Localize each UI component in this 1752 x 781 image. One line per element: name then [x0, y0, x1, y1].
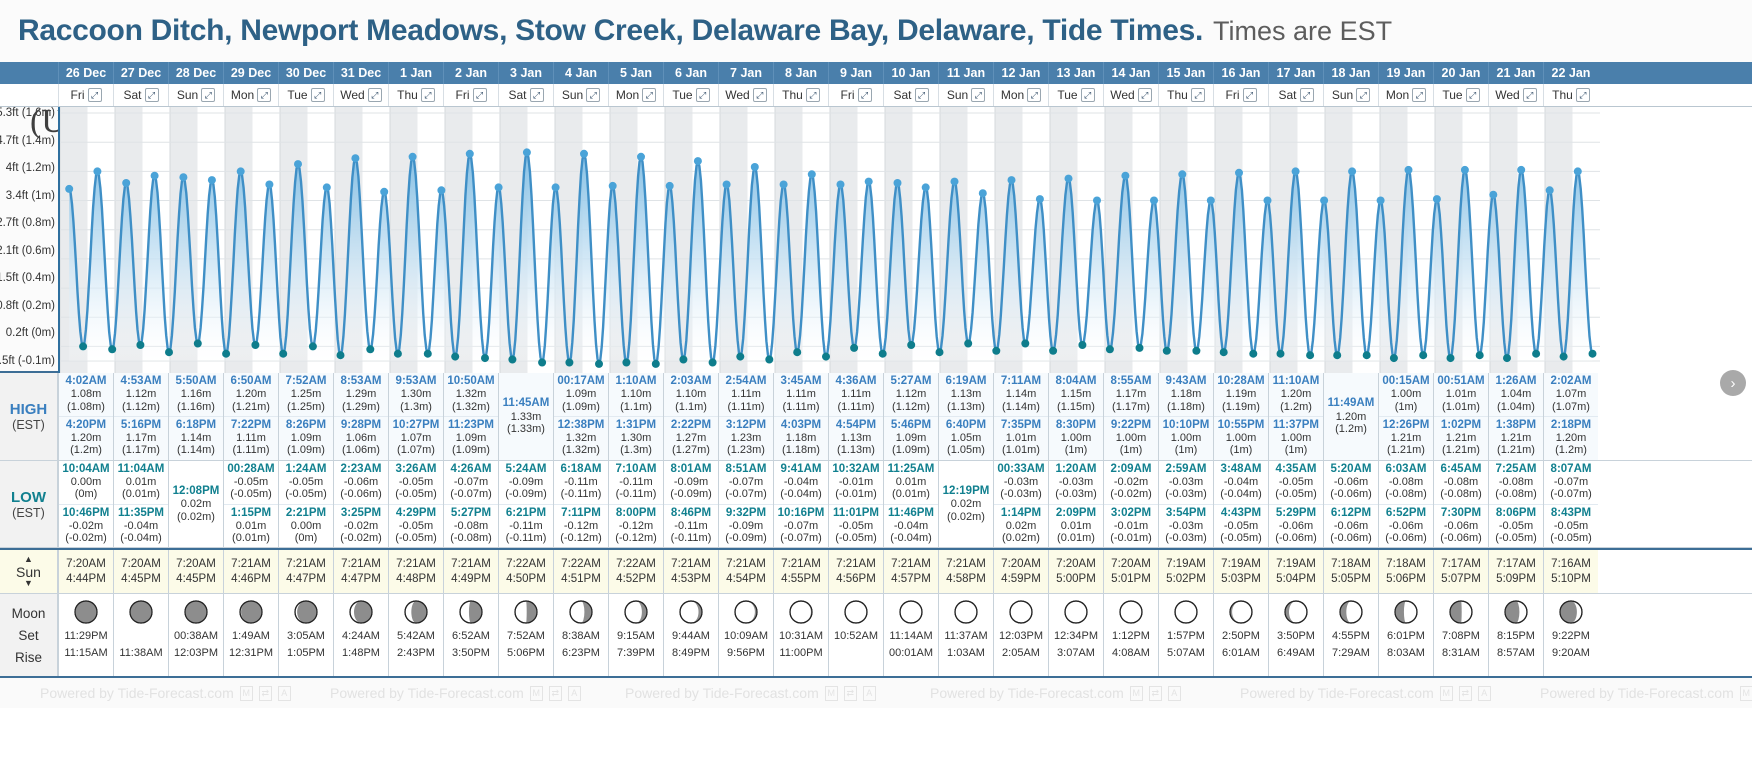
moon-cell: 6:01PM 8:03AM — [1378, 594, 1433, 676]
low-tide-cell: 2:09AM -0.02m (-0.02m)3:02PM -0.01m (-0.… — [1103, 461, 1158, 548]
tide-time: 11:49AM — [1324, 397, 1378, 410]
moonset-label: Set — [18, 628, 38, 643]
tide-height-alt: (1.2m) — [1324, 423, 1378, 435]
expand-icon[interactable]: ⤢ — [1523, 88, 1537, 102]
weekday-cell[interactable]: Wed⤢ — [1103, 84, 1158, 106]
tide-height-alt: (1.16m) — [169, 401, 223, 413]
tide-height-alt: (1.09m) — [554, 401, 608, 413]
sun-cell: 7:21AM 4:47PM — [278, 550, 333, 593]
high-tide-cell: 9:53AM 1.30m (1.3m)10:27PM 1.07m (1.07m) — [388, 373, 443, 460]
tide-event: 6:50AM 1.20m (1.21m) — [224, 373, 278, 416]
expand-icon[interactable]: ⤢ — [806, 88, 820, 102]
tide-time: 7:52AM — [279, 375, 333, 388]
sun-cell: 7:22AM 4:50PM — [498, 550, 553, 593]
weekday-label: Mon — [1386, 88, 1409, 102]
weekday-cell[interactable]: Thu⤢ — [773, 84, 828, 106]
expand-icon[interactable]: ⤢ — [1191, 88, 1205, 102]
expand-icon[interactable]: ⤢ — [1027, 88, 1041, 102]
tide-time: 8:00PM — [609, 507, 663, 520]
tide-time: 10:50AM — [444, 375, 498, 388]
sunset-time: 4:50PM — [506, 573, 546, 585]
tide-time: 10:32AM — [829, 463, 883, 476]
tide-event: 8:04AM 1.15m (1.15m) — [1049, 373, 1103, 416]
tide-time: 6:18AM — [554, 463, 608, 476]
moonset-time: 8:38AM — [562, 628, 600, 645]
tide-height: 1.30m — [609, 432, 663, 444]
tide-height: -0.07m — [1544, 476, 1598, 488]
tide-time: 8:43PM — [1544, 507, 1598, 520]
sunrise-time: 7:17AM — [1441, 558, 1481, 570]
low-tide-cell: 10:04AM 0.00m (0m)10:46PM -0.02m (-0.02m… — [58, 461, 113, 548]
tide-height: 0.00m — [279, 520, 333, 532]
moon-phase-icon — [1063, 599, 1089, 625]
weekday-cell[interactable]: Wed⤢ — [333, 84, 388, 106]
tide-height: 1.17m — [114, 432, 168, 444]
low-tide-cell: 4:35AM -0.05m (-0.05m)5:29PM -0.06m (-0.… — [1268, 461, 1323, 548]
moon-phase-icon — [1283, 599, 1309, 625]
tide-event: 11:10AM 1.20m (1.2m) — [1269, 373, 1323, 416]
moon-cells: 11:29PM 11:15AM 11:38AM 00:38AM 12:03PM … — [58, 594, 1752, 676]
high-tide-cell: 11:45AM 1.33m (1.33m) — [498, 373, 553, 460]
tide-table: 26 Dec27 Dec28 Dec29 Dec30 Dec31 Dec1 Ja… — [0, 62, 1752, 678]
weekday-cell[interactable]: Sun⤢ — [553, 84, 608, 106]
high-tide-cell: 7:11AM 1.14m (1.14m)7:35PM 1.01m (1.01m) — [993, 373, 1048, 460]
tide-height-alt: (-0.08m) — [1434, 488, 1488, 500]
tide-height: 1.01m — [1434, 388, 1488, 400]
tide-height-alt: (0.01m) — [1049, 532, 1103, 544]
tide-time: 8:04AM — [1049, 375, 1103, 388]
watermark-text: Powered by Tide-Forecast.com — [1540, 685, 1734, 701]
tide-height: 1.20m — [224, 388, 278, 400]
tide-height: 0.01m — [884, 476, 938, 488]
date-cell[interactable]: 7 Jan — [718, 62, 773, 84]
watermark-text: Powered by Tide-Forecast.com — [1240, 685, 1434, 701]
weekday-cell[interactable]: Mon⤢ — [993, 84, 1048, 106]
tide-height: 1.30m — [389, 388, 443, 400]
low-tide-cell: 11:04AM 0.01m (0.01m)11:35PM -0.04m (-0.… — [113, 461, 168, 548]
tide-height-alt: (1.12m) — [884, 401, 938, 413]
tide-height: 1.13m — [829, 432, 883, 444]
weekday-cell[interactable]: Sat⤢ — [1268, 84, 1323, 106]
low-tide-cell: 10:32AM -0.01m (-0.01m)11:01PM -0.05m (-… — [828, 461, 883, 548]
tide-event: 6:52PM -0.06m (-0.06m) — [1379, 504, 1433, 548]
high-tide-cell: 1:26AM 1.04m (1.04m)1:38PM 1.21m (1.21m) — [1488, 373, 1543, 460]
y-axis-tick: 0.2ft (0m) — [6, 327, 55, 339]
watermark-badge-icon: A — [278, 686, 291, 701]
tide-time: 3:25PM — [334, 507, 388, 520]
sunset-time: 4:57PM — [891, 573, 931, 585]
expand-icon[interactable]: ⤢ — [1300, 88, 1314, 102]
weekday-cell[interactable]: Fri⤢ — [828, 84, 883, 106]
sunrise-time: 7:19AM — [1221, 558, 1261, 570]
tide-height: -0.04m — [884, 520, 938, 532]
sunset-arrow-icon: ▼ — [24, 579, 33, 588]
tide-time: 3:26AM — [389, 463, 443, 476]
weekday-cell[interactable]: Thu⤢ — [1158, 84, 1213, 106]
sun-cell: 7:22AM 4:52PM — [608, 550, 663, 593]
moon-phase-icon — [1448, 599, 1474, 625]
date-cell[interactable]: 29 Dec — [223, 62, 278, 84]
date-cell[interactable]: 30 Dec — [278, 62, 333, 84]
date-cell[interactable]: 1 Jan — [388, 62, 443, 84]
moon-cell: 4:24AM 1:48PM — [333, 594, 388, 676]
tide-height: -0.05m — [224, 476, 278, 488]
tide-time: 11:10AM — [1269, 375, 1323, 388]
date-cell[interactable]: 26 Dec — [58, 62, 113, 84]
sun-cell: 7:19AM 5:04PM — [1268, 550, 1323, 593]
date-cell[interactable]: 17 Jan — [1268, 62, 1323, 84]
moon-phase-icon — [953, 599, 979, 625]
sun-cell: 7:17AM 5:07PM — [1433, 550, 1488, 593]
watermark-badge-icon: A — [1478, 686, 1491, 701]
high-tide-cells: 4:02AM 1.08m (1.08m)4:20PM 1.20m (1.2m)4… — [58, 373, 1752, 460]
weekday-cell[interactable]: Fri⤢ — [443, 84, 498, 106]
moon-cell: 12:03PM 2:05AM — [993, 594, 1048, 676]
tide-time: 6:40PM — [939, 419, 993, 432]
date-cell[interactable]: 5 Jan — [608, 62, 663, 84]
watermark-text: Powered by Tide-Forecast.com — [40, 685, 234, 701]
tide-time: 00:17AM — [554, 375, 608, 388]
date-cell[interactable]: 13 Jan — [1048, 62, 1103, 84]
moon-cell: 11:38AM — [113, 594, 168, 676]
weekday-cell[interactable]: Sun⤢ — [938, 84, 993, 106]
tide-event: 1:15PM 0.01m (0.01m) — [224, 504, 278, 548]
tide-height-alt: (-0.08m) — [1379, 488, 1433, 500]
weekday-cell[interactable]: Fri⤢ — [58, 84, 113, 106]
tide-event: 5:29PM -0.06m (-0.06m) — [1269, 504, 1323, 548]
tide-time: 8:55AM — [1104, 375, 1158, 388]
tide-event: 10:55PM 1.00m (1m) — [1214, 416, 1268, 460]
moonset-time: 10:31AM — [779, 628, 823, 645]
tide-height: 1.00m — [1104, 432, 1158, 444]
tide-event: 3:12PM 1.23m (1.23m) — [719, 416, 773, 460]
tide-time: 9:32PM — [719, 507, 773, 520]
sun-cell: 7:21AM 4:53PM — [663, 550, 718, 593]
expand-icon[interactable]: ⤢ — [145, 88, 159, 102]
tide-height: 1.18m — [774, 432, 828, 444]
moonrise-time: 8:49PM — [672, 645, 710, 662]
tide-event: 5:27PM -0.08m (-0.08m) — [444, 504, 498, 548]
sunset-time: 5:10PM — [1551, 573, 1591, 585]
tide-time: 1:38PM — [1489, 419, 1543, 432]
weekday-label: Tue — [1057, 88, 1077, 102]
tide-time: 6:19AM — [939, 375, 993, 388]
watermark-badge-icon: A — [568, 686, 581, 701]
tide-height-alt: (1.1m) — [609, 401, 663, 413]
tide-height: 1.09m — [554, 388, 608, 400]
sun-cell: 7:17AM 5:09PM — [1488, 550, 1543, 593]
tide-height: -0.05m — [829, 520, 883, 532]
weekday-cell[interactable]: Thu⤢ — [388, 84, 443, 106]
expand-icon[interactable]: ⤢ — [642, 88, 656, 102]
expand-icon[interactable]: ⤢ — [1576, 88, 1590, 102]
sun-cell: 7:20AM 5:00PM — [1048, 550, 1103, 593]
tide-event: 11:23PM 1.09m (1.09m) — [444, 416, 498, 460]
expand-icon[interactable]: ⤢ — [1466, 88, 1480, 102]
date-cell[interactable]: 14 Jan — [1103, 62, 1158, 84]
weekday-cell[interactable]: Mon⤢ — [608, 84, 663, 106]
tide-time: 1:10AM — [609, 375, 663, 388]
date-cell[interactable]: 19 Jan — [1378, 62, 1433, 84]
high-tide-title: HIGH — [10, 401, 48, 418]
weekday-cell[interactable]: Thu⤢ — [1543, 84, 1598, 106]
tide-height-alt: (1.11m) — [224, 444, 278, 456]
tide-curve-plot[interactable] — [58, 107, 1752, 373]
tide-height-alt: (0.02m) — [169, 511, 223, 523]
tide-time: 9:28PM — [334, 419, 388, 432]
expand-icon[interactable]: ⤢ — [88, 88, 102, 102]
tide-height-alt: (1.01m) — [994, 444, 1048, 456]
tide-event: 2:18PM 1.20m (1.2m) — [1544, 416, 1598, 460]
date-cell[interactable]: 18 Jan — [1323, 62, 1378, 84]
tide-height-alt: (-0.04m) — [1214, 488, 1268, 500]
tide-time: 7:10AM — [609, 463, 663, 476]
tide-time: 6:50AM — [224, 375, 278, 388]
tide-time: 1:14PM — [994, 507, 1048, 520]
tide-event: 3:48AM -0.04m (-0.04m) — [1214, 461, 1268, 504]
low-tide-cell: 7:10AM -0.11m (-0.11m)8:00PM -0.12m (-0.… — [608, 461, 663, 548]
sun-cell: 7:16AM 5:10PM — [1543, 550, 1598, 593]
date-cell[interactable]: 20 Jan — [1433, 62, 1488, 84]
high-tide-cell: 4:53AM 1.12m (1.12m)5:16PM 1.17m (1.17m) — [113, 373, 168, 460]
tide-time: 2:21PM — [279, 507, 333, 520]
tide-height: 0.01m — [114, 476, 168, 488]
tide-height-alt: (-0.05m) — [1544, 532, 1598, 544]
expand-icon[interactable]: ⤢ — [1412, 88, 1426, 102]
tide-height: -0.09m — [719, 520, 773, 532]
expand-icon[interactable]: ⤢ — [257, 88, 271, 102]
tide-height-alt: (1.15m) — [1049, 401, 1103, 413]
tide-height-alt: (-0.05m) — [389, 532, 443, 544]
low-tide-cell: 12:19PM 0.02m (0.02m) — [938, 461, 993, 548]
weekday-label: Sun — [947, 88, 968, 102]
tide-event: 1:20AM -0.03m (-0.03m) — [1049, 461, 1103, 504]
weekday-cell[interactable]: Mon⤢ — [1378, 84, 1433, 106]
weekday-cell[interactable]: Sat⤢ — [498, 84, 553, 106]
y-axis-tick: 4ft (1.2m) — [6, 162, 55, 174]
tide-event: 1:14PM 0.02m (0.02m) — [994, 504, 1048, 548]
tide-time: 10:46PM — [59, 507, 113, 520]
moon-cell: 10:31AM 11:00PM — [773, 594, 828, 676]
tide-time: 4:26AM — [444, 463, 498, 476]
tide-time: 8:07AM — [1544, 463, 1598, 476]
expand-icon[interactable]: ⤢ — [1356, 88, 1370, 102]
tide-height: -0.06m — [1324, 476, 1378, 488]
moon-phase-icon — [568, 599, 594, 625]
tide-height-alt: (-0.09m) — [664, 488, 718, 500]
low-tide-timezone: (EST) — [12, 506, 45, 520]
tide-time: 4:36AM — [829, 375, 883, 388]
tide-time: 3:02PM — [1104, 507, 1158, 520]
expand-icon[interactable]: ⤢ — [421, 88, 435, 102]
date-cell[interactable]: 27 Dec — [113, 62, 168, 84]
moon-cell: 9:15AM 7:39PM — [608, 594, 663, 676]
tide-height: -0.06m — [1379, 520, 1433, 532]
sun-cell: 7:21AM 4:57PM — [883, 550, 938, 593]
tide-height-alt: (-0.06m) — [1324, 532, 1378, 544]
weekday-cell[interactable]: Tue⤢ — [278, 84, 333, 106]
sun-cell: 7:19AM 5:03PM — [1213, 550, 1268, 593]
high-tide-cell: 11:10AM 1.20m (1.2m)11:37PM 1.00m (1m) — [1268, 373, 1323, 460]
weekday-cell[interactable]: Fri⤢ — [1213, 84, 1268, 106]
date-cell[interactable]: 15 Jan — [1158, 62, 1213, 84]
high-tide-cell: 2:03AM 1.10m (1.1m)2:22PM 1.27m (1.27m) — [663, 373, 718, 460]
tide-event: 2:22PM 1.27m (1.27m) — [664, 416, 718, 460]
tide-event: 8:53AM 1.29m (1.29m) — [334, 373, 388, 416]
date-cell[interactable]: 22 Jan — [1543, 62, 1598, 84]
weekday-cell[interactable]: Wed⤢ — [718, 84, 773, 106]
tide-height-alt: (-0.09m) — [499, 488, 553, 500]
tide-time: 9:22PM — [1104, 419, 1158, 432]
tide-event: 1:31PM 1.30m (1.3m) — [609, 416, 663, 460]
date-cell[interactable]: 9 Jan — [828, 62, 883, 84]
tide-height: 1.19m — [1214, 388, 1268, 400]
weekday-cell[interactable]: Mon⤢ — [223, 84, 278, 106]
tide-height: 1.11m — [224, 432, 278, 444]
weekday-label: Sun — [562, 88, 583, 102]
moonset-time: 8:15PM — [1497, 628, 1535, 645]
scroll-right-button[interactable]: › — [1720, 370, 1746, 396]
expand-icon[interactable]: ⤢ — [1138, 88, 1152, 102]
sunset-time: 4:49PM — [451, 573, 491, 585]
date-cell[interactable]: 21 Jan — [1488, 62, 1543, 84]
tide-height: 1.21m — [1489, 432, 1543, 444]
expand-icon[interactable]: ⤢ — [971, 88, 985, 102]
tide-time: 4:29PM — [389, 507, 443, 520]
tide-event: 12:26PM 1.21m (1.21m) — [1379, 416, 1433, 460]
tide-height: 1.05m — [939, 432, 993, 444]
tide-height: -0.05m — [1269, 476, 1323, 488]
weekday-label: Wed — [1495, 88, 1519, 102]
tide-time: 11:37PM — [1269, 419, 1323, 432]
tide-time: 7:11AM — [994, 375, 1048, 388]
tide-event: 8:55AM 1.17m (1.17m) — [1104, 373, 1158, 416]
date-cell[interactable]: 6 Jan — [663, 62, 718, 84]
tide-event: 6:18AM -0.11m (-0.11m) — [554, 461, 608, 504]
tide-height-alt: (1.17m) — [114, 444, 168, 456]
low-tide-cell: 5:24AM -0.09m (-0.09m)6:21PM -0.11m (-0.… — [498, 461, 553, 548]
date-cell[interactable]: 2 Jan — [443, 62, 498, 84]
moonset-time: 1:12PM — [1112, 628, 1150, 645]
low-tide-cell: 7:25AM -0.08m (-0.08m)8:06PM -0.05m (-0.… — [1488, 461, 1543, 548]
date-cell[interactable]: 28 Dec — [168, 62, 223, 84]
expand-icon[interactable]: ⤢ — [915, 88, 929, 102]
weekday-cell[interactable]: Tue⤢ — [1433, 84, 1488, 106]
tide-height-alt: (-0.04m) — [884, 532, 938, 544]
weekday-cell[interactable]: Sat⤢ — [883, 84, 938, 106]
sunrise-time: 7:17AM — [1496, 558, 1536, 570]
tide-height: -0.05m — [389, 476, 443, 488]
date-cell[interactable]: 12 Jan — [993, 62, 1048, 84]
weekday-cell[interactable]: Tue⤢ — [1048, 84, 1103, 106]
moon-phase-icon — [678, 599, 704, 625]
low-tide-cells: 10:04AM 0.00m (0m)10:46PM -0.02m (-0.02m… — [58, 461, 1752, 548]
tide-height: -0.03m — [1159, 476, 1213, 488]
tide-height: 1.09m — [884, 432, 938, 444]
moonrise-time: 11:15AM — [64, 645, 107, 662]
tide-chart-row: 5.3ft (1.6m)4.7ft (1.4m)4ft (1.2m)3.4ft … — [0, 107, 1752, 373]
tide-event: 10:46PM -0.02m (-0.02m) — [59, 504, 113, 548]
tide-time: 1:15PM — [224, 507, 278, 520]
expand-icon[interactable]: ⤢ — [311, 88, 325, 102]
date-cell[interactable]: 8 Jan — [773, 62, 828, 84]
tide-time: 5:20AM — [1324, 463, 1378, 476]
tide-height-alt: (1.05m) — [939, 444, 993, 456]
weekday-cell[interactable]: Wed⤢ — [1488, 84, 1543, 106]
watermark-badge-icon: ⇄ — [1459, 686, 1472, 701]
moonrise-time: 12:31PM — [229, 645, 273, 662]
sunset-time: 4:48PM — [396, 573, 436, 585]
moon-cell: 10:09AM 9:56PM — [718, 594, 773, 676]
tide-height: 1.09m — [444, 432, 498, 444]
expand-icon[interactable]: ⤢ — [473, 88, 487, 102]
tide-event: 1:26AM 1.04m (1.04m) — [1489, 373, 1543, 416]
expand-icon[interactable]: ⤢ — [368, 88, 382, 102]
tide-time: 3:12PM — [719, 419, 773, 432]
sunset-time: 4:45PM — [176, 573, 216, 585]
date-cell[interactable]: 10 Jan — [883, 62, 938, 84]
expand-icon[interactable]: ⤢ — [696, 88, 710, 102]
tide-height-alt: (0.01m) — [224, 532, 278, 544]
moonrise-time: 11:38AM — [119, 645, 162, 662]
moonset-time: 5:42AM — [397, 628, 435, 645]
expand-icon[interactable]: ⤢ — [753, 88, 767, 102]
tide-height: 0.01m — [1049, 520, 1103, 532]
tide-time: 12:08PM — [169, 485, 223, 498]
tide-event: 11:45AM 1.33m (1.33m) — [499, 385, 553, 447]
tide-event: 2:54AM 1.11m (1.11m) — [719, 373, 773, 416]
watermark-badge-icon: M — [1440, 686, 1453, 701]
low-tide-cell: 4:26AM -0.07m (-0.07m)5:27PM -0.08m (-0.… — [443, 461, 498, 548]
weekday-cell[interactable]: Sun⤢ — [1323, 84, 1378, 106]
weekday-cell[interactable]: Sun⤢ — [168, 84, 223, 106]
low-tide-cell: 8:01AM -0.09m (-0.09m)8:46PM -0.11m (-0.… — [663, 461, 718, 548]
tide-event: 00:17AM 1.09m (1.09m) — [554, 373, 608, 416]
tide-event: 4:35AM -0.05m (-0.05m) — [1269, 461, 1323, 504]
tide-event: 00:51AM 1.01m (1.01m) — [1434, 373, 1488, 416]
page-title: Raccoon Ditch, Newport Meadows, Stow Cre… — [18, 14, 1203, 48]
expand-icon[interactable]: ⤢ — [1081, 88, 1095, 102]
weekday-cell[interactable]: Sat⤢ — [113, 84, 168, 106]
footer-watermark: Powered by Tide-Forecast.comM⇄A — [40, 685, 291, 701]
tide-height-alt: (-0.12m) — [609, 532, 663, 544]
low-tide-cell: 12:08PM 0.02m (0.02m) — [168, 461, 223, 548]
tide-time: 4:03PM — [774, 419, 828, 432]
date-cell[interactable]: 4 Jan — [553, 62, 608, 84]
watermark-badge-icon: ⇄ — [259, 686, 272, 701]
expand-icon[interactable]: ⤢ — [858, 88, 872, 102]
sun-cell: 7:21AM 4:58PM — [938, 550, 993, 593]
date-cell[interactable]: 11 Jan — [938, 62, 993, 84]
date-cell[interactable]: 3 Jan — [498, 62, 553, 84]
tide-height-alt: (1.12m) — [114, 401, 168, 413]
moon-cell: 4:55PM 7:29AM — [1323, 594, 1378, 676]
expand-icon[interactable]: ⤢ — [1243, 88, 1257, 102]
date-cell[interactable]: 16 Jan — [1213, 62, 1268, 84]
expand-icon[interactable]: ⤢ — [201, 88, 215, 102]
tide-height: 1.17m — [1104, 388, 1158, 400]
y-axis-tick: -0.5ft (-0.1m) — [0, 355, 55, 367]
high-tide-cell: 10:28AM 1.19m (1.19m)10:55PM 1.00m (1m) — [1213, 373, 1268, 460]
date-cells: 26 Dec27 Dec28 Dec29 Dec30 Dec31 Dec1 Ja… — [58, 62, 1752, 84]
moon-cell: 00:38AM 12:03PM — [168, 594, 223, 676]
weekday-cell[interactable]: Tue⤢ — [663, 84, 718, 106]
expand-icon[interactable]: ⤢ — [530, 88, 544, 102]
date-cell[interactable]: 31 Dec — [333, 62, 388, 84]
expand-icon[interactable]: ⤢ — [586, 88, 600, 102]
tide-height: -0.05m — [1489, 520, 1543, 532]
low-tide-cell: 00:33AM -0.03m (-0.03m)1:14PM 0.02m (0.0… — [993, 461, 1048, 548]
